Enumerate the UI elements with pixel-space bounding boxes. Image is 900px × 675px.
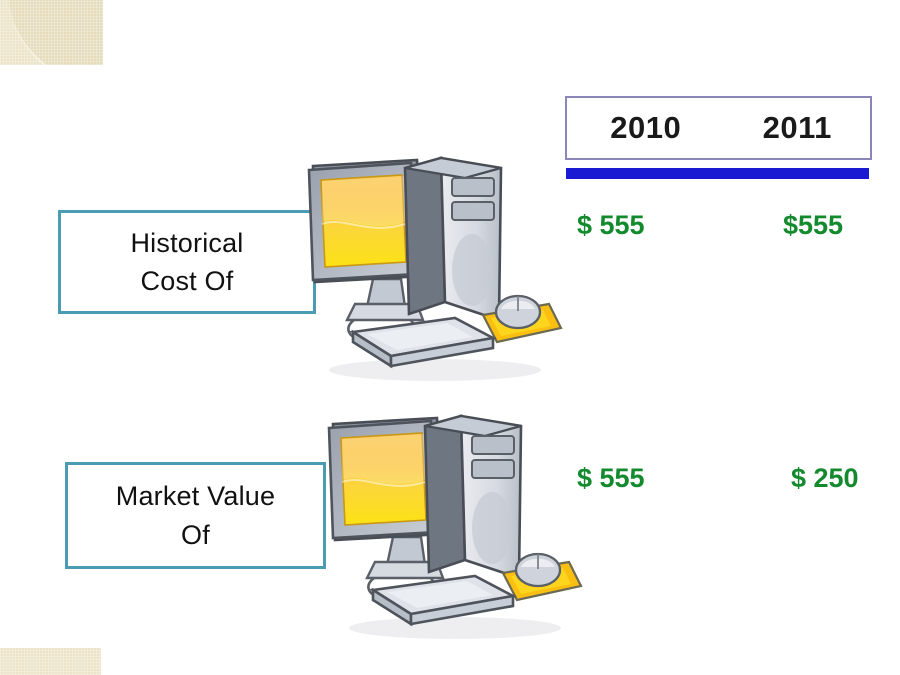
column-header-2011: 2011 bbox=[725, 110, 870, 146]
slide-canvas: 2010 2011 Historical Cost Of bbox=[0, 0, 900, 675]
value-2011-historical-cost: $555 bbox=[783, 210, 843, 241]
corner-texture-pattern bbox=[0, 648, 101, 675]
column-header-2010: 2010 bbox=[567, 110, 725, 146]
value-2011-market-value: $ 250 bbox=[791, 463, 859, 494]
value-2010-market-value: $ 555 bbox=[577, 463, 645, 494]
desktop-computer-icon bbox=[305, 152, 565, 387]
row-label-line-1: Historical bbox=[130, 224, 243, 262]
decorative-corner-top-left bbox=[0, 0, 103, 65]
year-header-box: 2010 2011 bbox=[565, 96, 872, 160]
row-label-historical-cost: Historical Cost Of bbox=[58, 210, 316, 314]
desktop-computer-icon bbox=[325, 410, 585, 645]
row-label-line-1: Market Value bbox=[116, 477, 275, 515]
row-label-line-2: Cost Of bbox=[141, 262, 234, 300]
value-2010-historical-cost: $ 555 bbox=[577, 210, 645, 241]
row-label-market-value: Market Value Of bbox=[65, 462, 326, 569]
row-label-line-2: Of bbox=[181, 516, 210, 554]
corner-texture-pattern bbox=[0, 0, 103, 65]
decorative-corner-bottom-left bbox=[0, 648, 101, 675]
year-header-underline-bar bbox=[566, 168, 869, 179]
